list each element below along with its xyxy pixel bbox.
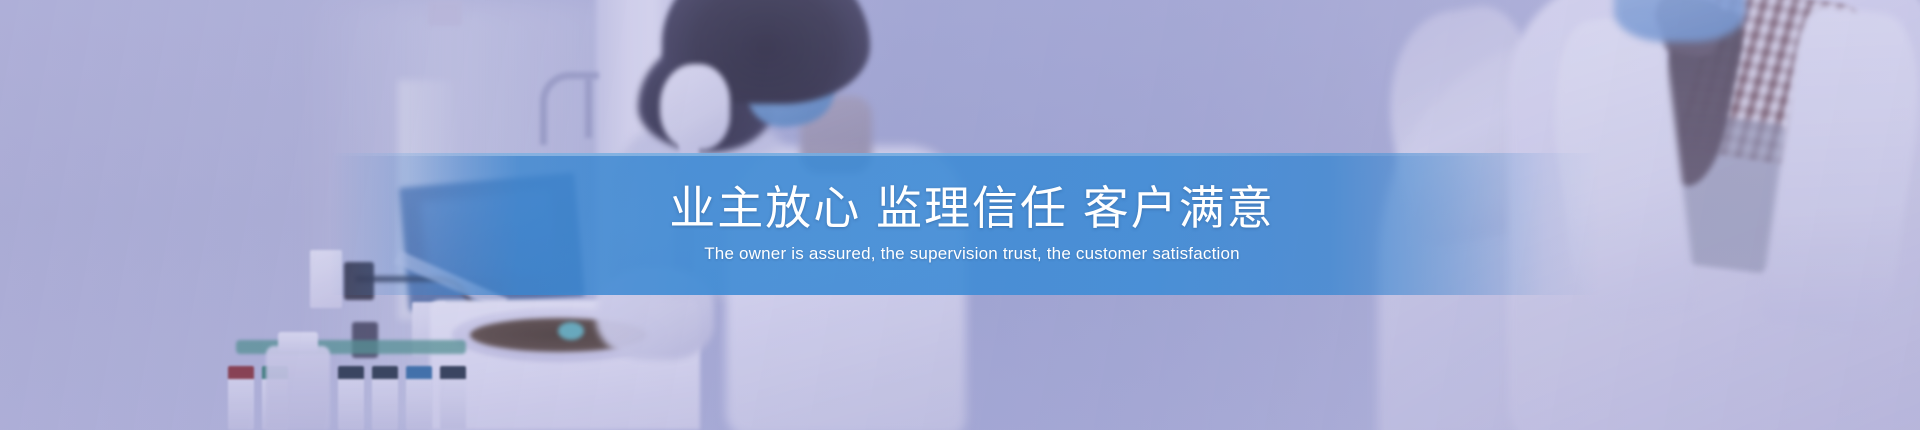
slogan-subline-english: The owner is assured, the supervision tr…: [704, 243, 1240, 264]
hero-banner: 业主放心 监理信任 客户满意 The owner is assured, the…: [0, 0, 1920, 430]
slogan-headline-chinese: 业主放心 监理信任 客户满意: [669, 184, 1275, 233]
slogan-block: 业主放心 监理信任 客户满意 The owner is assured, the…: [0, 153, 1920, 295]
